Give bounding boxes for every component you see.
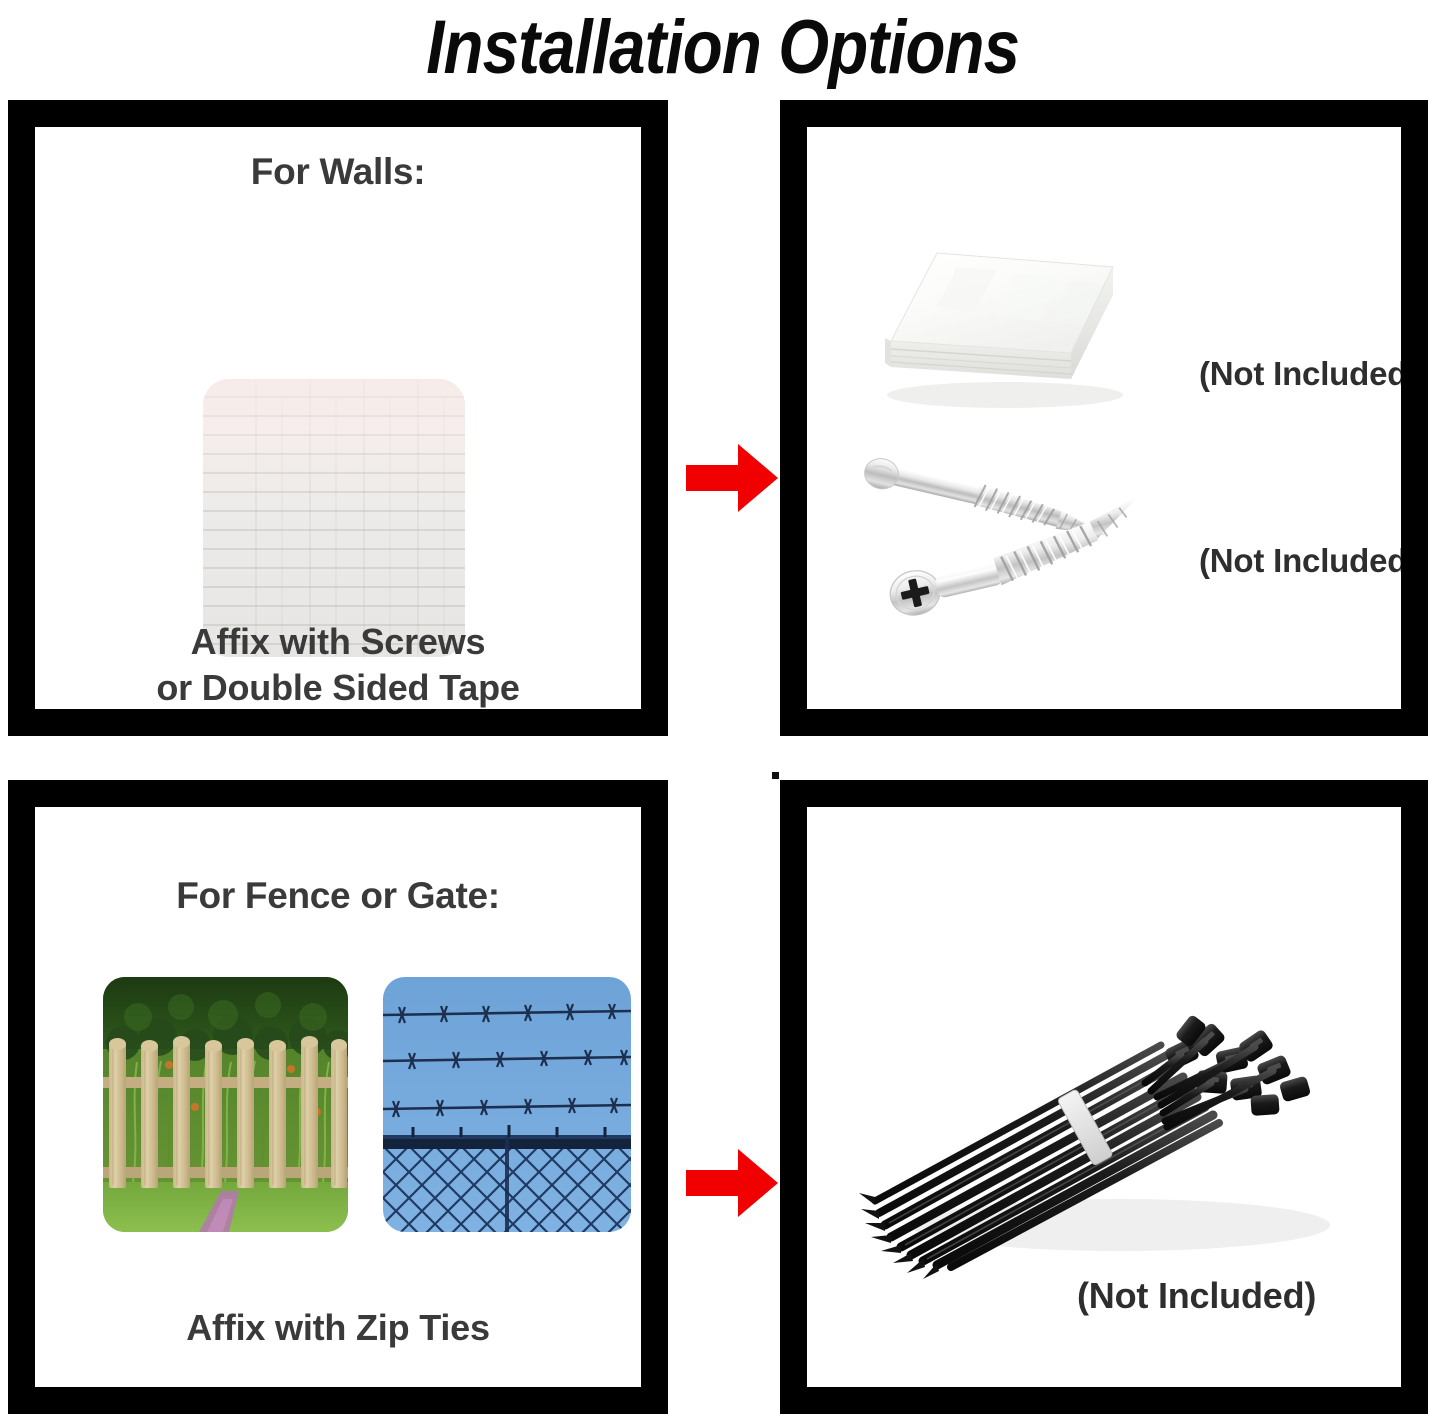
for-walls-heading: For Walls:: [35, 151, 641, 193]
fence-caption: Affix with Zip Ties: [35, 1305, 641, 1351]
red-right-arrow-top: [684, 441, 780, 515]
ziptie-not-included-label: (Not Included): [1077, 1275, 1316, 1317]
white-brick-wall-swatch: [203, 379, 465, 657]
panel-fence-hardware: (Not Included): [780, 780, 1428, 1414]
panel-for-fence-or-gate: For Fence or Gate:: [8, 780, 668, 1414]
speck-artifact: [772, 772, 779, 779]
red-right-arrow-bottom: [684, 1146, 780, 1220]
chain-link-barbed-wire-fence-photo: [383, 977, 631, 1232]
black-zip-ties-bundle: [845, 925, 1385, 1325]
panel-wall-hardware: (Not Included): [780, 100, 1428, 736]
page-title: Installation Options: [426, 10, 1019, 86]
walls-caption: Affix with Screws or Double Sided Tape: [35, 619, 641, 709]
walls-caption-line2: or Double Sided Tape: [35, 665, 641, 709]
double-sided-tape-stack: [865, 245, 1137, 417]
for-fence-heading: For Fence or Gate:: [35, 875, 641, 917]
tape-not-included-label: (Not Included): [1199, 355, 1401, 393]
wooden-picket-fence-photo: [103, 977, 348, 1232]
walls-caption-line1: Affix with Screws: [35, 619, 641, 665]
screws-not-included-label: (Not Included): [1199, 542, 1401, 580]
panel-grid: For Walls: Affix with Screws or Double S…: [0, 96, 1445, 1422]
title-bar: Installation Options: [0, 0, 1445, 96]
silver-wood-screws: [829, 452, 1219, 637]
panel-for-walls: For Walls: Affix with Screws or Double S…: [8, 100, 668, 736]
